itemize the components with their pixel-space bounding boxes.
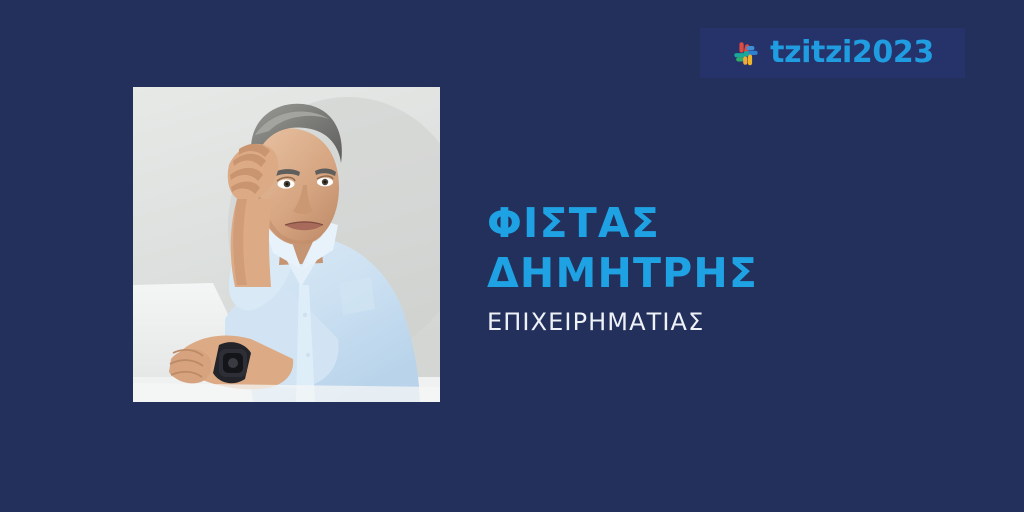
- pinwheel-logo-icon: [731, 39, 761, 69]
- brand-logo-badge[interactable]: tzitzi2023: [700, 28, 965, 78]
- lower-third-graphic: tzitzi2023: [0, 0, 1024, 512]
- person-name-line-1: ΦΙΣΤΑΣ: [487, 198, 957, 248]
- person-identity-block: ΦΙΣΤΑΣ ΔΗΜΗΤΡΗΣ ΕΠΙΧΕΙΡΗΜΑΤΙΑΣ: [487, 198, 957, 337]
- brand-wordmark: tzitzi2023: [770, 38, 934, 68]
- portrait-photo: [133, 87, 440, 402]
- person-role: ΕΠΙΧΕΙΡΗΜΑΤΙΑΣ: [487, 307, 957, 337]
- person-name-line-2: ΔΗΜΗΤΡΗΣ: [487, 248, 957, 298]
